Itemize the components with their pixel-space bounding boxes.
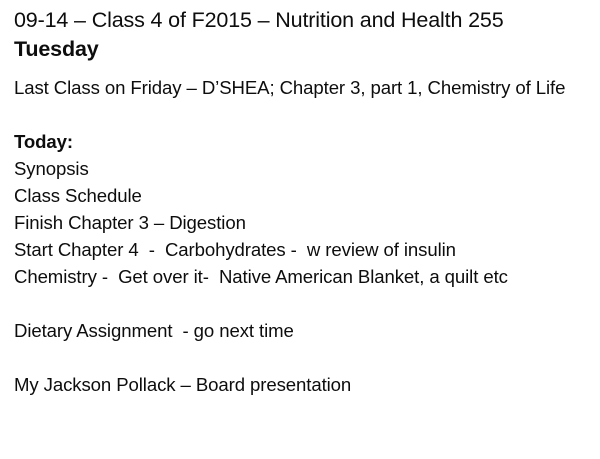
agenda-item-chemistry: Chemistry - Get over it- Native American… [14, 263, 582, 290]
today-heading: Today: [14, 128, 582, 155]
blank-line-1 [14, 101, 582, 128]
blank-line-3 [14, 344, 582, 371]
agenda-item-synopsis: Synopsis [14, 155, 582, 182]
last-class-line: Last Class on Friday – D’SHEA; Chapter 3… [14, 74, 580, 101]
slide-title-line-2: Tuesday [14, 35, 582, 64]
dietary-assignment-line: Dietary Assignment - go next time [14, 317, 582, 344]
slide-body-block: Last Class on Friday – D’SHEA; Chapter 3… [14, 74, 582, 398]
agenda-item-start-chapter-4: Start Chapter 4 - Carbohydrates - w revi… [14, 236, 582, 263]
slide-title-line-1: 09-14 – Class 4 of F2015 – Nutrition and… [14, 6, 582, 35]
agenda-item-class-schedule: Class Schedule [14, 182, 582, 209]
slide-canvas: 09-14 – Class 4 of F2015 – Nutrition and… [0, 0, 600, 459]
jackson-pollack-line: My Jackson Pollack – Board presentation [14, 371, 582, 398]
blank-line-2 [14, 290, 582, 317]
slide-title-block: 09-14 – Class 4 of F2015 – Nutrition and… [14, 6, 582, 64]
agenda-item-finish-chapter-3: Finish Chapter 3 – Digestion [14, 209, 582, 236]
